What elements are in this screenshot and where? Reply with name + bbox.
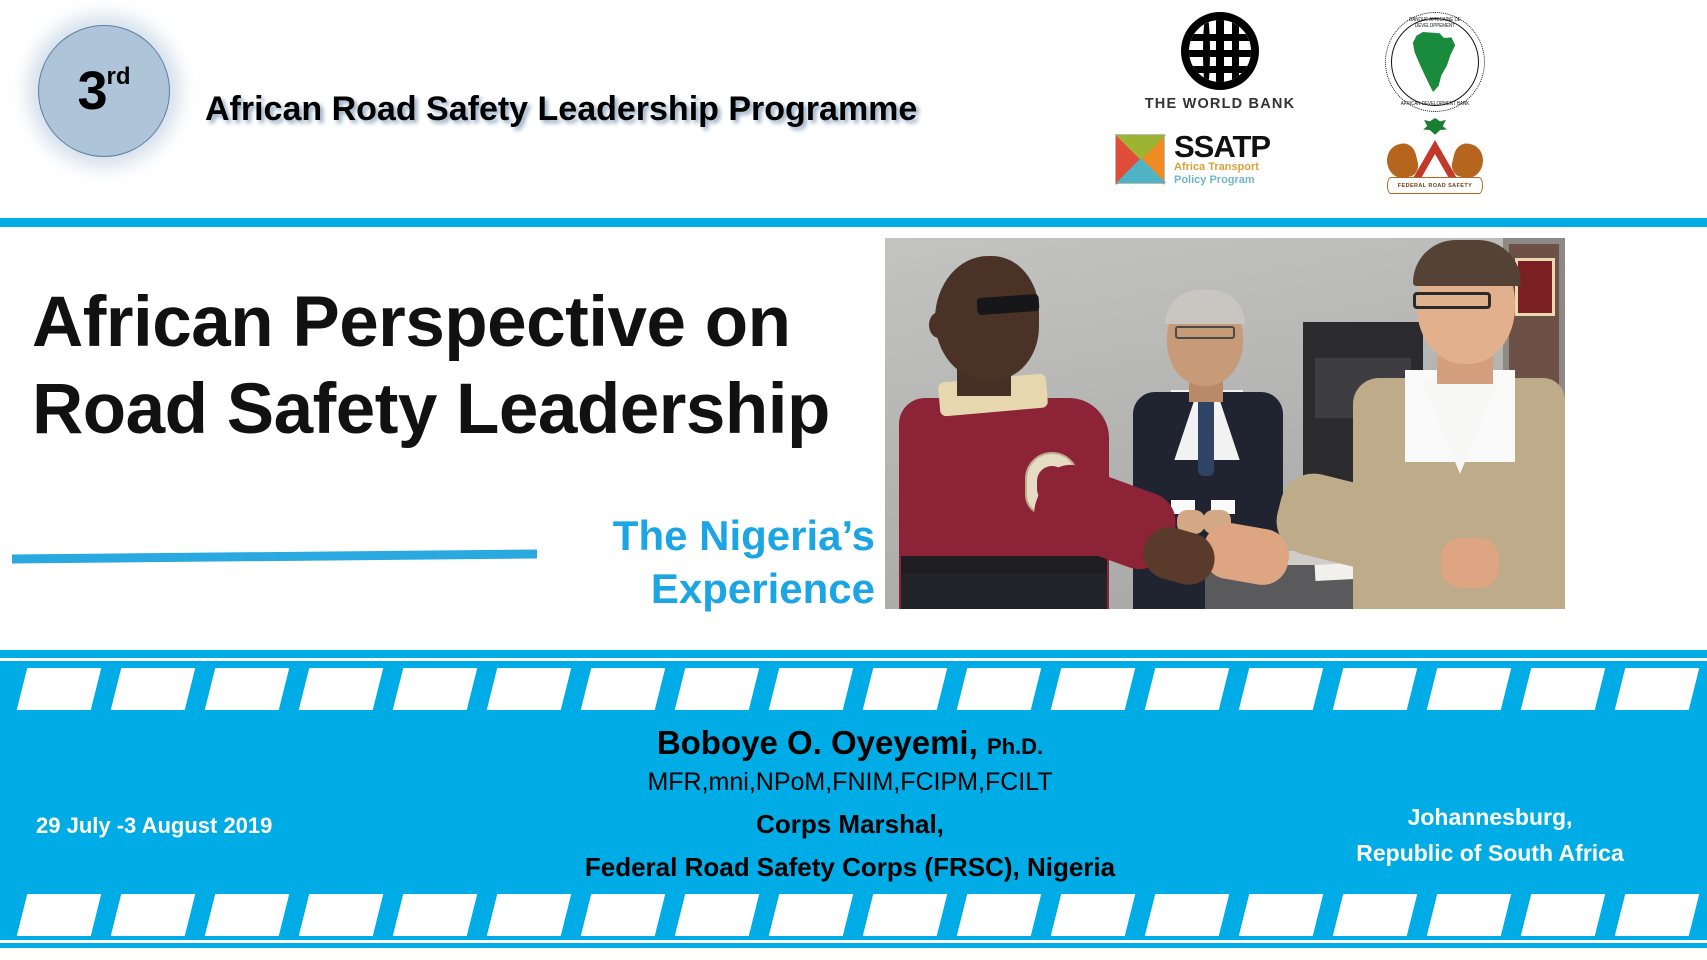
speaker-degree: Ph.D. [987, 734, 1043, 759]
ssatp-logo: SSATP Africa Transport Policy Program [1115, 128, 1295, 190]
slide-footer: Boboye O. Oyeyemi, Ph.D. MFR,mni,NPoM,FN… [0, 632, 1707, 960]
frsc-scroll-banner: FEDERAL ROAD SAFETY [1387, 177, 1483, 194]
header-divider-rule [0, 218, 1707, 227]
speaker-name: Boboye O. Oyeyemi, [657, 724, 978, 761]
african-development-bank-logo: BANQUE AFRICAINE DE DEVELOPPEMENT AFRICA… [1385, 12, 1485, 112]
page-subtitle-line2: Experience [430, 563, 875, 616]
slide-main: African Perspective on Road Safety Leade… [0, 232, 1707, 632]
speaker-name-row: Boboye O. Oyeyemi, Ph.D. [350, 724, 1350, 762]
speaker-qualifications: MFR,mni,NPoM,FNIM,FCIPM,FCILT [350, 764, 1350, 802]
ssatp-tagline-line2: Policy Program [1174, 174, 1270, 187]
speaker-organisation: Federal Road Safety Corps (FRSC), Nigeri… [350, 848, 1350, 887]
ssatp-tagline-line1: Africa Transport [1174, 161, 1270, 174]
page-title-line1: African Perspective on [32, 280, 962, 367]
programme-title: African Road Safety Leadership Programme [205, 90, 917, 129]
afdb-ring-text-top: BANQUE AFRICAINE DE DEVELOPPEMENT [1390, 17, 1480, 29]
ordinal-badge: 3rd [38, 25, 170, 157]
world-bank-logo: THE WORLD BANK [1130, 12, 1310, 112]
ordinal-suffix: rd [107, 63, 131, 91]
film-perforation-row-bottom [0, 894, 1707, 936]
speaker-details: Boboye O. Oyeyemi, Ph.D. MFR,mni,NPoM,FN… [350, 724, 1350, 887]
page-title-line2: Road Safety Leadership [32, 367, 962, 454]
event-date: 29 July -3 August 2019 [36, 812, 356, 841]
nigeria-frsc-coat-of-arms-logo: FEDERAL ROAD SAFETY [1385, 118, 1485, 196]
film-perforation-row-top [0, 668, 1707, 710]
frsc-scroll-text: FEDERAL ROAD SAFETY [1398, 183, 1472, 189]
event-location-line1: Johannesburg, [1325, 800, 1655, 836]
event-location-line2: Republic of South Africa [1325, 836, 1655, 872]
event-location: Johannesburg, Republic of South Africa [1325, 800, 1655, 871]
page-subtitle-line1: The Nigeria’s [430, 510, 875, 563]
slide-header: 3rd African Road Safety Leadership Progr… [0, 0, 1707, 232]
speaker-role: Corps Marshal, [350, 805, 1350, 844]
ssatp-diamond-icon [1115, 134, 1165, 184]
afdb-ring-text-bottom: AFRICAN DEVELOPMENT BANK [1390, 101, 1480, 107]
globe-icon [1181, 12, 1259, 90]
footer-hairline-bottom [0, 940, 1707, 943]
eagle-icon [1422, 118, 1448, 142]
page-title: African Perspective on Road Safety Leade… [32, 280, 962, 453]
footer-hairline-top [0, 658, 1707, 661]
ordinal-number: 3 [77, 64, 106, 118]
page-subtitle: The Nigeria’s Experience [430, 510, 875, 615]
handshake-photograph [885, 238, 1565, 609]
world-bank-label: THE WORLD BANK [1145, 96, 1296, 112]
ssatp-acronym: SSATP [1174, 132, 1270, 161]
